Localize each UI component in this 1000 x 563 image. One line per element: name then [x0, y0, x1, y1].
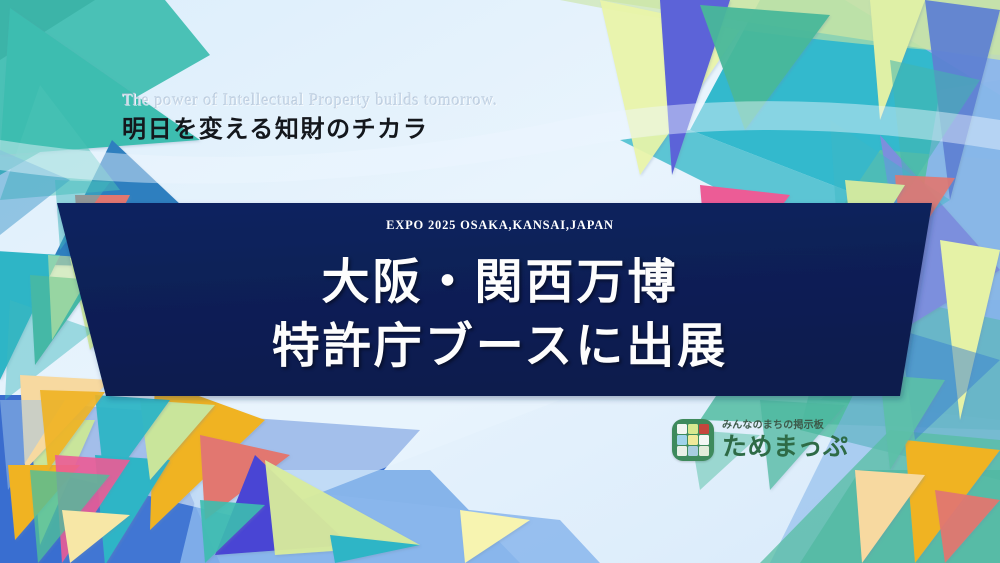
icon-tile-4	[677, 435, 687, 445]
icon-tile-9	[699, 446, 709, 456]
logo-name: ためまっぷ	[722, 434, 849, 459]
icon-tile-2	[688, 424, 698, 434]
logo-subtitle: みんなのまちの掲示板	[722, 421, 849, 431]
poster-canvas: The power of Intellectual Property build…	[0, 0, 1000, 563]
icon-tile-5	[688, 435, 698, 445]
icon-tile-7	[677, 446, 687, 456]
logo-lockup[interactable]: みんなのまちの掲示板 ためまっぷ	[672, 419, 849, 461]
tagline-english: The power of Intellectual Property build…	[122, 90, 497, 111]
icon-tile-8	[688, 446, 698, 456]
decorative-background	[0, 0, 1000, 563]
icon-tile-1	[677, 424, 687, 434]
tagline-block: The power of Intellectual Property build…	[122, 90, 497, 144]
icon-tile-3	[699, 424, 709, 434]
tagline-japanese: 明日を変える知財のチカラ	[122, 114, 497, 144]
logo-text-group: みんなのまちの掲示板 ためまっぷ	[722, 421, 849, 459]
icon-tile-6	[699, 435, 709, 445]
tamemap-app-icon[interactable]	[672, 419, 714, 461]
